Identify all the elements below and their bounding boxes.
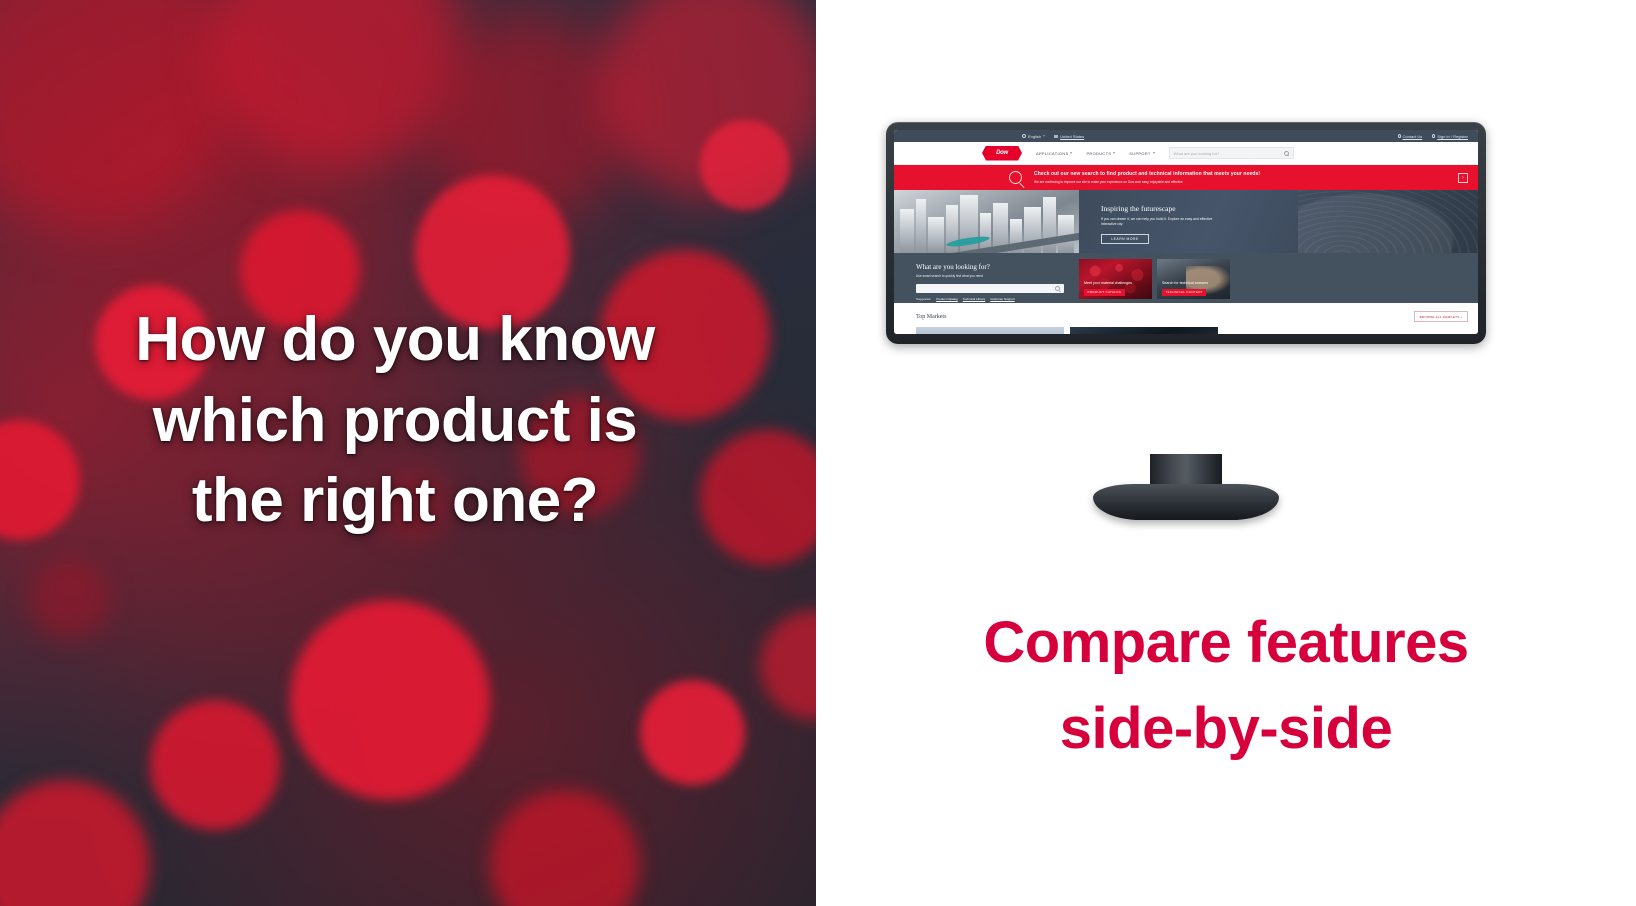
slide-headline: How do you know which product is the rig… (0, 300, 790, 542)
feature-cards: Meet your material challenges PRODUCT CA… (1079, 253, 1478, 303)
flag-icon (1054, 135, 1058, 138)
card-title: Meet your material challenges (1084, 281, 1147, 286)
caption-line-1: Compare features (816, 600, 1636, 686)
country-selector[interactable]: United States (1054, 134, 1084, 139)
suggested-link-customer-support[interactable]: Customer Support (990, 297, 1014, 301)
chevron-down-icon (1113, 152, 1115, 154)
smart-search-section: What are you looking for? Use smart sear… (894, 253, 1478, 303)
bokeh-circle (640, 680, 745, 785)
primary-nav: APPLICATIONS PRODUCTS SUPPORT (1036, 151, 1155, 156)
site-navbar: Dow APPLICATIONS PRODUCTS (894, 142, 1478, 165)
smart-search-panel: What are you looking for? Use smart sear… (894, 253, 1079, 303)
suggested-link-technical-library[interactable]: Technical Library (963, 297, 986, 301)
promo-banner: Check out our new search to find product… (894, 165, 1478, 190)
language-selector[interactable]: English (1022, 134, 1045, 139)
feature-card-materials[interactable]: Meet your material challenges PRODUCT CA… (1079, 259, 1152, 299)
smart-search-input[interactable] (916, 284, 1064, 293)
top-markets-title: Top Markets (916, 314, 946, 320)
chevron-down-icon (1043, 135, 1045, 137)
presentation-slide: How do you know which product is the rig… (0, 0, 1636, 906)
suggested-link-product-catalog[interactable]: Product Catalog (936, 297, 958, 301)
search-icon[interactable] (1055, 286, 1060, 291)
nav-item-products[interactable]: PRODUCTS (1086, 151, 1115, 156)
hero-text-block: Inspiring the futurescape If you can dre… (1079, 190, 1478, 253)
hero-section: Inspiring the futurescape If you can dre… (894, 190, 1478, 253)
nav-label: APPLICATIONS (1036, 151, 1068, 156)
suggested-links: Suggested: Product Catalog Technical Lib… (916, 297, 1079, 301)
caption-line-2: side-by-side (816, 686, 1636, 772)
hero-city-image (894, 190, 1079, 253)
search-icon[interactable] (1284, 151, 1289, 156)
sign-in-link[interactable]: Sign In / Register (1432, 134, 1468, 139)
bokeh-circle (700, 120, 790, 210)
promo-next-button[interactable]: › (1458, 173, 1468, 183)
market-card-mobility[interactable]: Mobility (1070, 327, 1218, 334)
building-shape (916, 199, 926, 253)
smart-search-subtitle: Use smart search to quickly find what yo… (916, 274, 1079, 278)
country-label: United States (1060, 134, 1084, 139)
headline-line-3: the right one? (0, 461, 790, 542)
hero-body: If you can dream it, we can help you bui… (1101, 217, 1221, 228)
nav-label: SUPPORT (1129, 151, 1150, 156)
suggested-label: Suggested: (916, 297, 931, 301)
headline-line-1: How do you know (0, 300, 790, 381)
search-icon (1009, 171, 1022, 184)
bokeh-circle (150, 700, 280, 830)
site-utility-bar: English United States (894, 130, 1478, 142)
smart-search-heading: What are you looking for? (916, 263, 1079, 271)
building-shape (900, 209, 914, 253)
hero-learn-more-button[interactable]: LEARN MORE (1101, 234, 1149, 244)
nav-item-applications[interactable]: APPLICATIONS (1036, 151, 1072, 156)
phone-icon (1398, 134, 1401, 138)
nav-item-support[interactable]: SUPPORT (1129, 151, 1154, 156)
nav-label: PRODUCTS (1086, 151, 1111, 156)
hero-heading: Inspiring the futurescape (1101, 204, 1478, 213)
card-title: Search for technical answers (1162, 281, 1225, 286)
globe-icon (1022, 134, 1026, 138)
promo-title: Check out our new search to find product… (1034, 171, 1260, 177)
desktop-monitor: English United States (886, 122, 1486, 344)
monitor-stand-base (1093, 484, 1279, 520)
headline-line-2: which product is (0, 381, 790, 462)
monitor-screen: English United States (894, 130, 1478, 334)
dow-website-screenshot: English United States (894, 130, 1478, 334)
market-card-building[interactable]: Building Construction and Infrastructure (916, 327, 1064, 334)
promo-subtitle: We are continuing to improve our site to… (1034, 180, 1260, 184)
contact-us-label: Contact Us (1403, 134, 1423, 139)
header-search-input[interactable]: What are you looking for? (1169, 147, 1294, 159)
card-button-product-catalog[interactable]: PRODUCT CATALOG (1084, 289, 1125, 296)
monitor-bezel: English United States (886, 122, 1486, 344)
language-label: English (1028, 134, 1041, 139)
dow-logo[interactable]: Dow (982, 146, 1022, 161)
building-shape (928, 217, 944, 253)
left-panel: How do you know which product is the rig… (0, 0, 816, 906)
slide-caption: Compare features side-by-side (816, 600, 1636, 772)
logo-wordmark: Dow (996, 150, 1008, 156)
right-panel: English United States (816, 0, 1636, 906)
bokeh-circle (290, 600, 490, 800)
feature-card-technical[interactable]: Search for technical answers TECHNICAL C… (1157, 259, 1230, 299)
chevron-down-icon (1070, 152, 1072, 154)
sign-in-label: Sign In / Register (1437, 134, 1468, 139)
browse-all-markets-button[interactable]: BROWSE ALL MARKETS › (1414, 311, 1468, 322)
contact-us-link[interactable]: Contact Us (1398, 134, 1423, 139)
search-placeholder: What are you looking for? (1174, 151, 1220, 156)
chevron-down-icon (1153, 152, 1155, 154)
card-button-technical-content[interactable]: TECHNICAL CONTENT (1162, 289, 1206, 296)
bokeh-circle (30, 560, 110, 640)
top-markets-section: Top Markets BROWSE ALL MARKETS › Buildin… (894, 303, 1478, 334)
user-icon (1432, 134, 1435, 138)
